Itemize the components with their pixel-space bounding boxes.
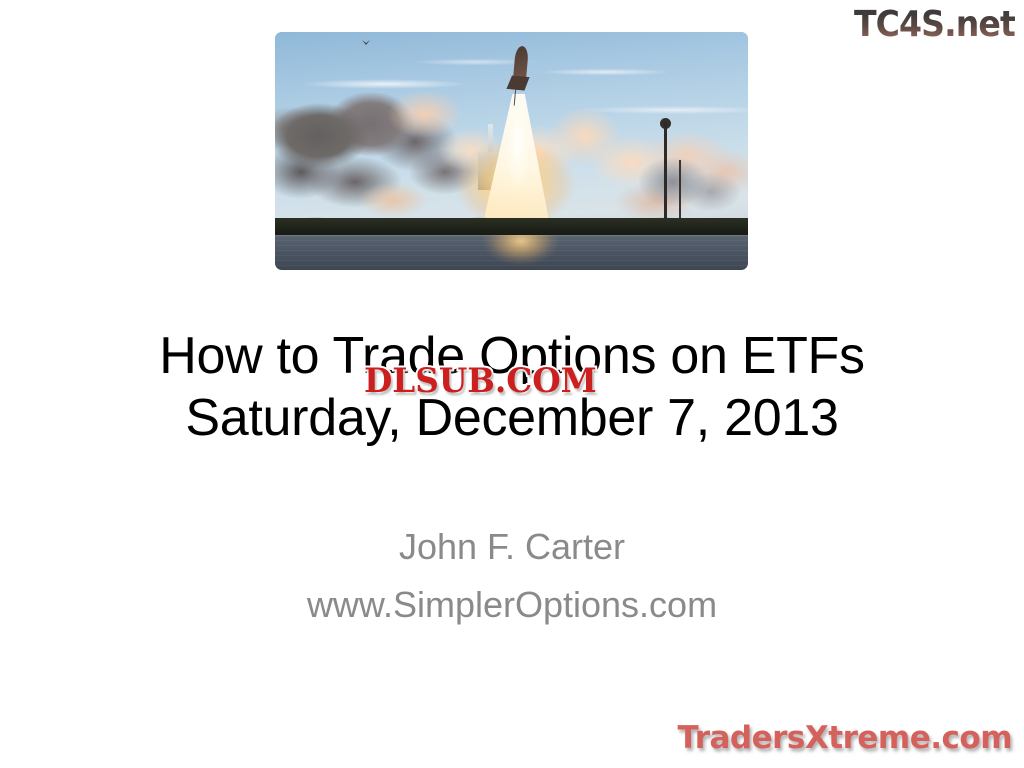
shuttle-launch-image: [275, 32, 748, 270]
presenter-name: John F. Carter: [60, 518, 964, 576]
presenter-website: www.SimplerOptions.com: [60, 576, 964, 634]
watermark-tc4s: TC4S.net: [854, 4, 1015, 45]
shoreline: [275, 218, 748, 236]
water-reflection: [473, 235, 569, 270]
slide-subtitle: John F. Carter www.SimplerOptions.com: [60, 518, 964, 634]
watermark-tradersxtreme: TradersXtreme.com: [677, 720, 1012, 756]
watermark-dlsub: DLSUB.COM: [364, 361, 597, 401]
presentation-slide: How to Trade Options on ETFs Saturday, D…: [0, 0, 1024, 768]
